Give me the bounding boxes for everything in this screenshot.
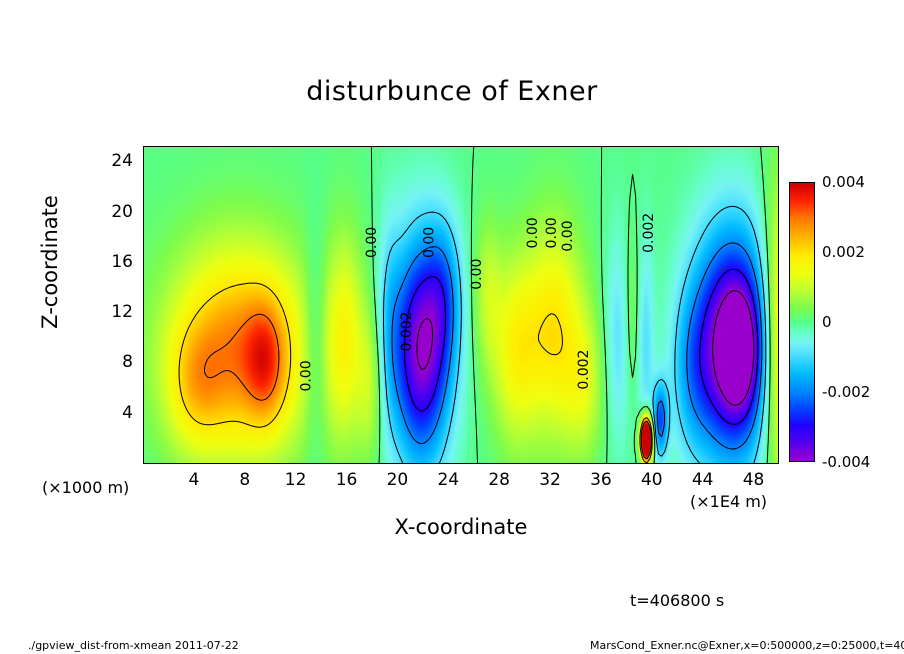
x-tick-label: 44 (683, 470, 723, 490)
colorbar-gradient (790, 183, 814, 461)
x-tick-label: 12 (276, 470, 316, 490)
contour-overlay: 0.000.000.000.0020.000.000.000.000.0020.… (144, 147, 779, 464)
footer-right-text: MarsCond_Exner.nc@Exner,x=0:500000,z=0:2… (590, 639, 904, 652)
colorbar-tick-label: -0.002 (822, 383, 870, 401)
colorbar-tick-label: 0 (822, 313, 832, 331)
contour-label: 0.002 (399, 311, 415, 351)
x-tick-label: 16 (327, 470, 367, 490)
contour-label: 0.002 (576, 350, 592, 390)
x-tick-label: 24 (428, 470, 468, 490)
contour-line (371, 147, 770, 464)
x-tick-label: 32 (530, 470, 570, 490)
x-tick-label: 8 (225, 470, 265, 490)
contour-line (405, 269, 758, 424)
y-tick-label: 16 (93, 252, 133, 272)
chart-figure: disturbunce of Exner 0.000.000.000.0020.… (0, 0, 904, 654)
x-tick-label: 4 (174, 470, 214, 490)
x-axis-unit: (×1E4 m) (690, 492, 767, 511)
contour-label: 0.00 (525, 217, 541, 248)
x-tick-label: 28 (479, 470, 519, 490)
contour-line (392, 243, 762, 449)
x-axis-label: X-coordinate (143, 515, 779, 539)
contour-label: 0.00 (560, 220, 576, 251)
x-tick-label: 36 (581, 470, 621, 490)
timestamp-annotation: t=406800 s (630, 591, 724, 610)
contour-label: 0.00 (421, 227, 437, 258)
chart-title: disturbunce of Exner (0, 76, 904, 107)
contour-label: 0.00 (299, 360, 315, 391)
y-tick-label: 20 (93, 202, 133, 222)
y-tick-label: 12 (93, 302, 133, 322)
plot-area: 0.000.000.000.0020.000.000.000.000.0020.… (143, 146, 779, 464)
y-tick-label: 8 (93, 352, 133, 372)
colorbar (789, 182, 815, 462)
contour-label: 0.00 (544, 217, 560, 248)
contour-label: 0.00 (469, 259, 485, 290)
y-axis-label: Z-coordinate (38, 152, 62, 372)
y-tick-label: 24 (93, 151, 133, 171)
y-axis-unit: (×1000 m) (42, 478, 129, 497)
colorbar-tick-label: -0.004 (822, 453, 870, 471)
footer-left-text: ./gpview_dist-from-xmean 2011-07-22 (28, 639, 239, 652)
x-tick-label: 48 (734, 470, 774, 490)
contour-label: 0.002 (641, 213, 657, 253)
colorbar-tick-label: 0.004 (822, 173, 865, 191)
x-tick-label: 40 (632, 470, 672, 490)
y-tick-label: 4 (93, 403, 133, 423)
colorbar-tick-label: 0.002 (822, 243, 865, 261)
contour-label: 0.00 (364, 227, 380, 258)
x-tick-label: 20 (377, 470, 417, 490)
